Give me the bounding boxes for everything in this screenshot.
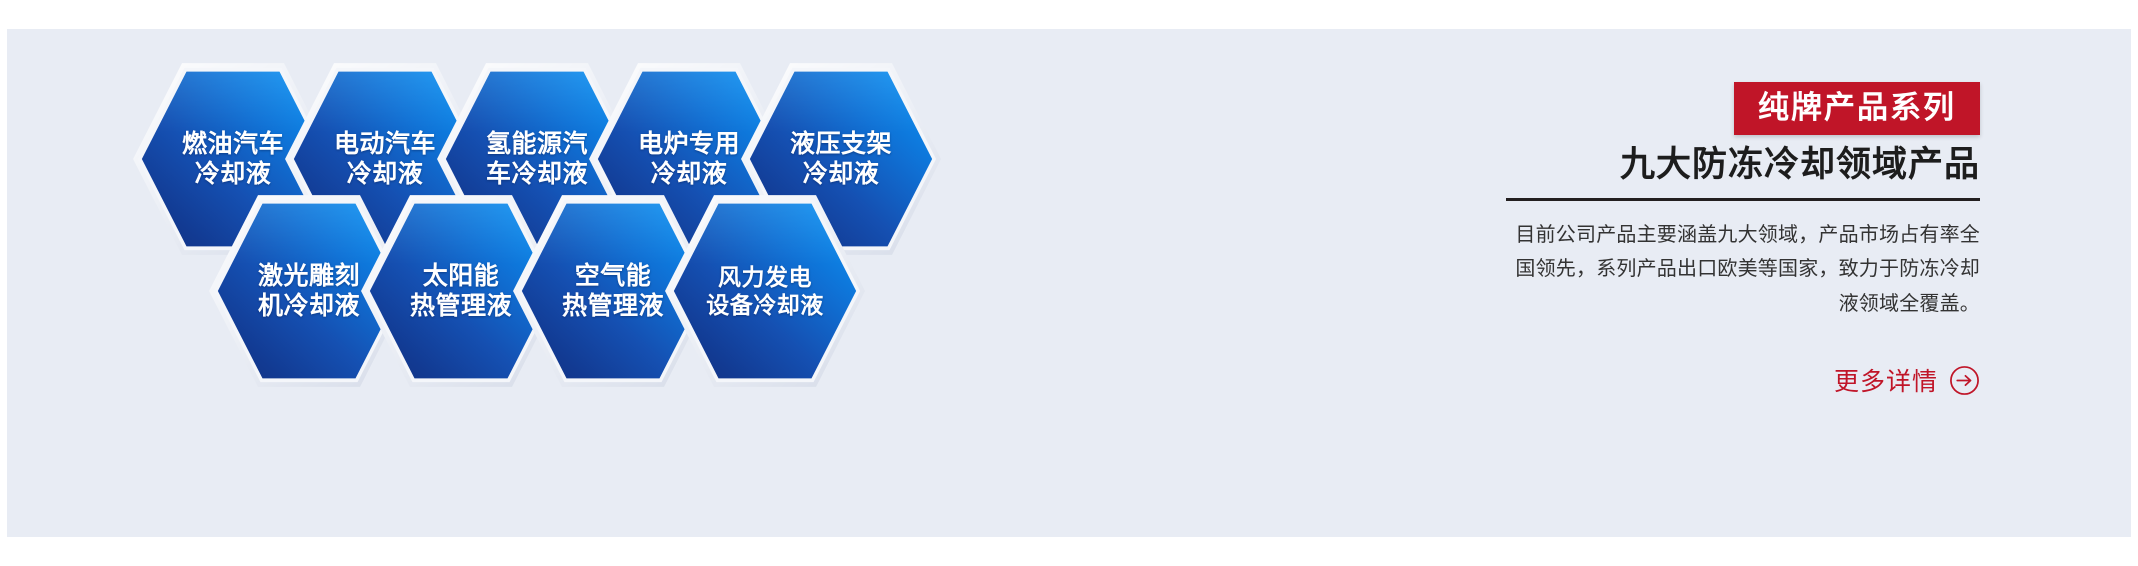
hex-label: 燃油汽车 冷却液 [182,129,284,190]
heading-divider [1506,198,1980,201]
hex-label: 空气能 热管理液 [562,261,664,322]
page-root: 燃油汽车 冷却液 电动汽车 冷却液 氢能源汽 车冷却液 电炉专用 冷却液 [0,0,2138,566]
product-hex-grid: 燃油汽车 冷却液 电动汽车 冷却液 氢能源汽 车冷却液 电炉专用 冷却液 [0,0,1200,566]
hex-label: 氢能源汽 车冷却液 [486,129,588,190]
hex-label: 太阳能 热管理液 [410,261,512,322]
hex-label: 激光雕刻 机冷却液 [258,261,360,322]
hex-label: 电动汽车 冷却液 [334,129,436,190]
more-details-label: 更多详情 [1834,362,1938,398]
series-badge: 纯牌产品系列 [1734,82,1980,135]
description-text: 目前公司产品主要涵盖九大领域，产品市场占有率全国领先，系列产品出口欧美等国家，致… [1500,218,1980,321]
hex-wind-power-equipment-coolant[interactable]: 风力发电 设备冷却液 [672,198,858,384]
product-info-column: 纯牌产品系列 九大防冻冷却领域产品 目前公司产品主要涵盖九大领域，产品市场占有率… [1330,72,1980,502]
page-title: 九大防冻冷却领域产品 [1620,144,1980,186]
more-details-link[interactable]: 更多详情 [1834,362,1980,398]
hex-label: 风力发电 设备冷却液 [706,263,824,319]
arrow-right-circle-icon [1949,365,1980,396]
hex-label: 液压支架 冷却液 [790,129,892,190]
hex-label: 电炉专用 冷却液 [638,129,740,190]
